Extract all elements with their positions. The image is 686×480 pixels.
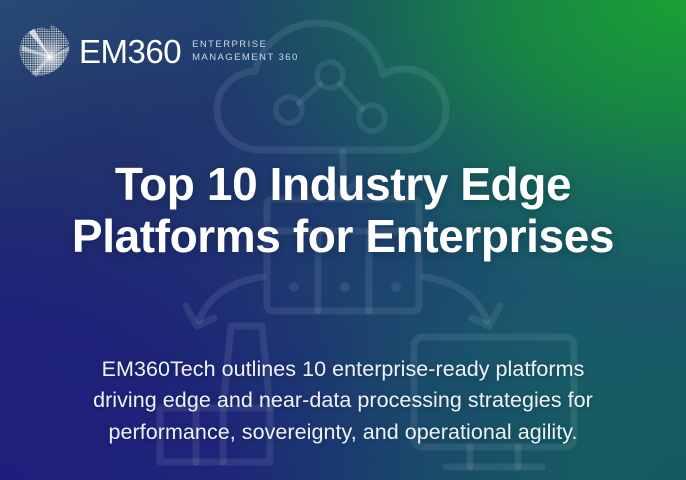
page-subtitle-line1: EM360Tech outlines 10 enterprise-ready p… bbox=[26, 354, 660, 385]
logo-wordmark: EM360 ENTERPRISE MANAGEMENT 360 bbox=[79, 33, 299, 68]
curved-arrow-left-icon bbox=[186, 277, 262, 326]
em360-logo[interactable]: EM360 ENTERPRISE MANAGEMENT 360 bbox=[14, 22, 299, 78]
logo-wordmark-text: EM360 bbox=[79, 35, 181, 68]
page-title: Top 10 Industry Edge Platforms for Enter… bbox=[0, 158, 686, 263]
page-subtitle: EM360Tech outlines 10 enterprise-ready p… bbox=[0, 354, 686, 448]
page-title-line2: Platforms for Enterprises bbox=[16, 210, 670, 262]
curved-arrow-right-icon bbox=[424, 277, 500, 326]
page-subtitle-line2: driving edge and near-data processing st… bbox=[26, 385, 660, 416]
social-card: EM360 ENTERPRISE MANAGEMENT 360 Top 10 I… bbox=[0, 0, 686, 480]
em360-radial-fan-icon bbox=[14, 22, 70, 78]
page-subtitle-line3: performance, sovereignty, and operationa… bbox=[26, 417, 660, 448]
logo-tagline-line2: MANAGEMENT 360 bbox=[192, 52, 299, 65]
logo-tagline-line1: ENTERPRISE bbox=[192, 39, 299, 52]
logo-tagline: ENTERPRISE MANAGEMENT 360 bbox=[192, 37, 299, 64]
page-title-line1: Top 10 Industry Edge bbox=[16, 158, 670, 210]
